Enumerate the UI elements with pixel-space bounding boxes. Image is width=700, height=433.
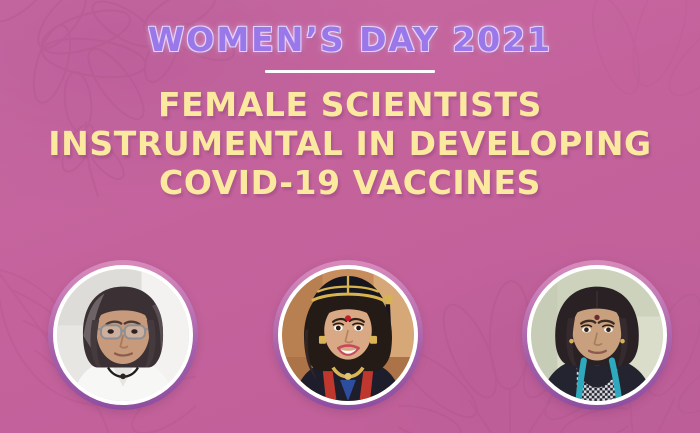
portrait-2[interactable] [273, 260, 423, 410]
banner-header: WOMEN’S DAY 2021 FEMALE SCIENTISTS INSTR… [0, 0, 700, 202]
womens-day-banner: WOMEN’S DAY 2021 FEMALE SCIENTISTS INSTR… [0, 0, 700, 433]
portrait-3[interactable] [522, 260, 672, 410]
divider [0, 69, 700, 73]
portrait-1[interactable] [48, 260, 198, 410]
headline-line-1: FEMALE SCIENTISTS [0, 86, 700, 125]
portrait-row [0, 260, 700, 412]
portrait-1-frame [53, 265, 193, 405]
eyebrow-title: WOMEN’S DAY 2021 [0, 0, 700, 58]
portrait-2-photo [282, 269, 414, 401]
portrait-1-photo [57, 269, 189, 401]
headline-line-3: COVID-19 VACCINES [0, 164, 700, 203]
portrait-3-frame [527, 265, 667, 405]
headline-line-2: INSTRUMENTAL IN DEVELOPING [0, 125, 700, 164]
page-title: FEMALE SCIENTISTS INSTRUMENTAL IN DEVELO… [0, 86, 700, 203]
portrait-2-frame [278, 265, 418, 405]
divider-rule [265, 70, 435, 73]
portrait-3-photo [531, 269, 663, 401]
